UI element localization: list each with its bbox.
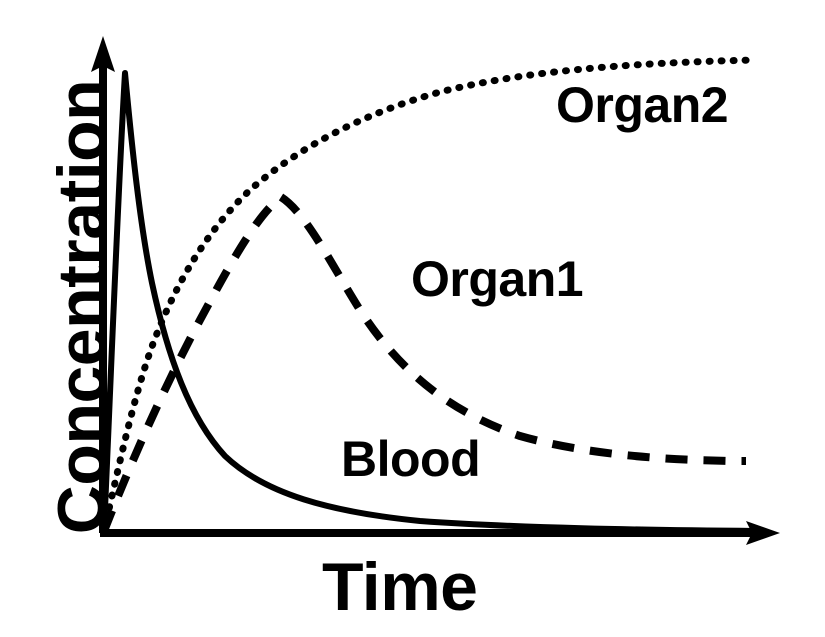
pharmacokinetics-chart: Concentration Time Organ2 Organ1 Blood — [0, 0, 825, 637]
series-label-organ2: Organ2 — [556, 76, 728, 134]
series-label-blood: Blood — [341, 430, 480, 488]
series-label-organ1: Organ1 — [411, 250, 583, 308]
x-axis-title: Time — [322, 548, 477, 626]
y-axis-title: Concentration — [43, 57, 121, 557]
